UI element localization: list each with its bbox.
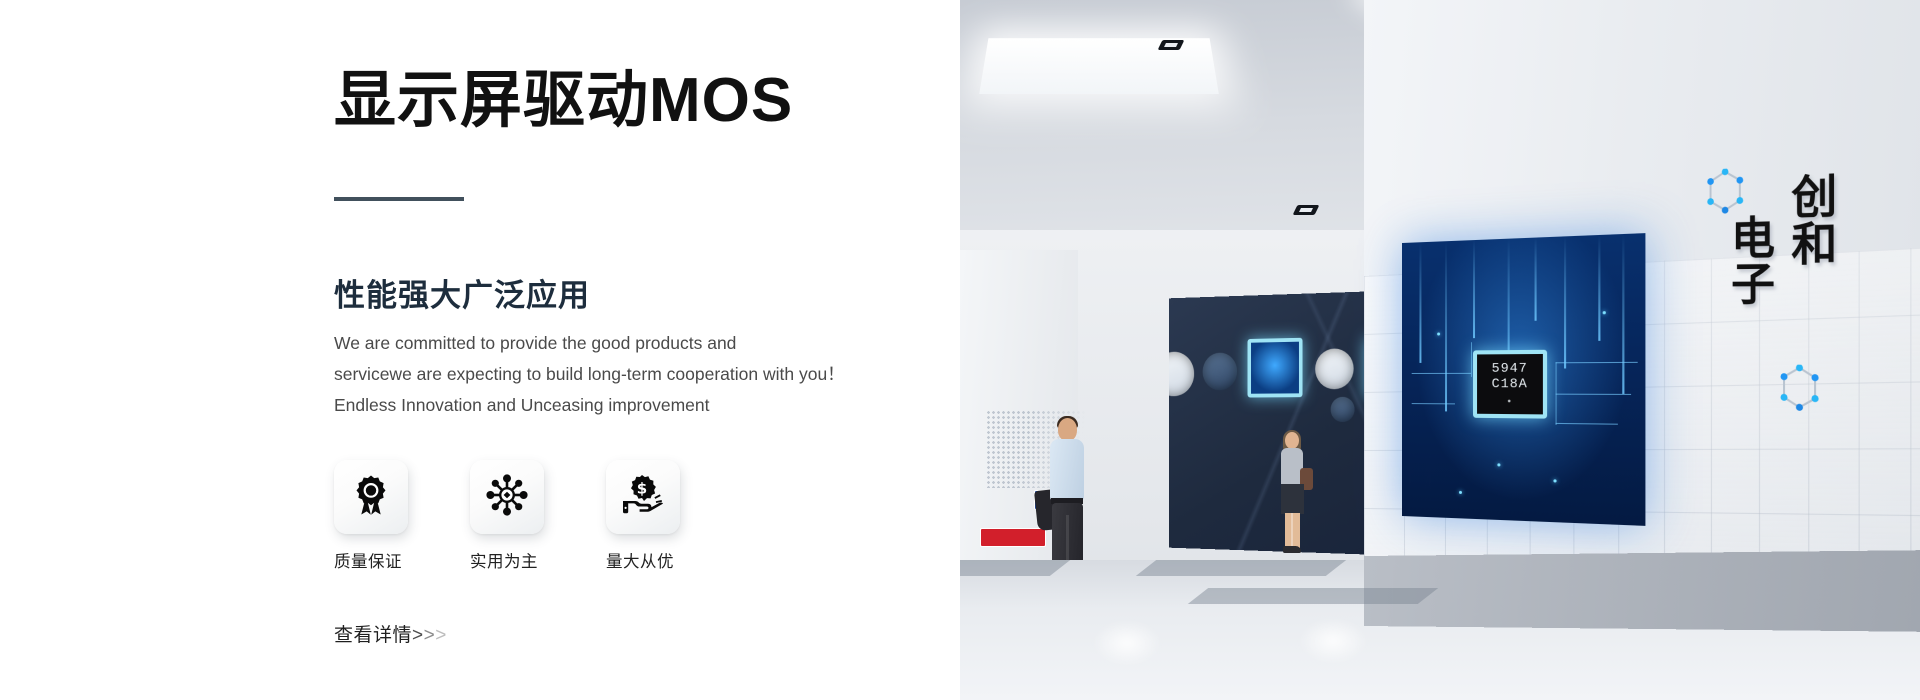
skylight-panel-light	[979, 38, 1219, 94]
chip-graphic: 5947 C18A ●	[1473, 350, 1547, 419]
hand-money-icon: $	[621, 474, 665, 521]
hero-banner: 显示屏驱动MOS 性能强大广泛应用 We are committed to pr…	[0, 0, 1920, 700]
floor-inlay-strip	[1188, 588, 1438, 604]
hero-text-pane: 显示屏驱动MOS 性能强大广泛应用 We are committed to pr…	[0, 0, 960, 700]
feature-item-quality[interactable]: 质量保证	[334, 460, 412, 572]
porthole-chip-image	[1248, 338, 1303, 398]
floor-inlay-strip	[1136, 560, 1346, 576]
hero-subtitle: 性能强大广泛应用	[334, 270, 590, 315]
chevron-right-icon-1: >	[412, 625, 424, 646]
feature-list: 质量保证	[334, 460, 684, 572]
chip-code-line-1: 5947	[1492, 360, 1528, 376]
title-divider	[334, 197, 464, 201]
floor-light-reflection	[1298, 618, 1368, 664]
description-line-1: We are committed to provide the good pro…	[334, 328, 894, 359]
description-line-2: servicewe are expecting to build long-te…	[334, 359, 894, 390]
feature-item-practical[interactable]: 实用为主	[470, 460, 548, 572]
award-ribbon-icon	[351, 474, 391, 521]
feature-tile	[334, 460, 408, 534]
chevron-right-icon-3: >	[435, 625, 447, 646]
view-details-link[interactable]: 查看详情>>>	[334, 620, 447, 647]
chip-pin-marker: ●	[1507, 393, 1512, 409]
wall-logo-column-1: 电子	[1725, 214, 1772, 307]
showroom-photo: 5947 C18A ● 电子 创和	[960, 0, 1920, 700]
feature-label: 实用为主	[470, 548, 538, 572]
page-title: 显示屏驱动MOS	[334, 66, 793, 135]
feature-label: 量大从优	[606, 548, 674, 572]
description-line-3: Endless Innovation and Unceasing improve…	[334, 390, 894, 421]
hero-description: We are committed to provide the good pro…	[334, 328, 894, 421]
hexagon-molecule-icon	[1779, 364, 1820, 413]
feature-label: 质量保证	[334, 548, 402, 572]
person-woman	[1276, 432, 1308, 554]
porthole-image	[1315, 348, 1353, 389]
chevron-right-icon-2: >	[424, 625, 436, 646]
wall-logo-column-2: 创和	[1785, 172, 1834, 267]
wall-baseboard	[1364, 549, 1920, 632]
network-hub-icon	[486, 474, 528, 521]
feature-tile: $	[606, 460, 680, 534]
feature-tile	[470, 460, 544, 534]
svg-text:$: $	[637, 479, 647, 497]
porthole-image	[1331, 397, 1355, 422]
red-wall-sign	[980, 528, 1046, 547]
cta-label: 查看详情	[334, 625, 412, 646]
hexagon-molecule-icon	[1706, 168, 1745, 216]
porthole-image	[1203, 352, 1237, 390]
porthole-image	[1169, 351, 1194, 396]
chip-code-line-2: C18A	[1492, 375, 1528, 391]
feature-item-bulk-discount[interactable]: $ 量大从优	[606, 460, 684, 572]
floor-light-reflection	[1092, 620, 1162, 666]
led-screen: 5947 C18A ●	[1402, 233, 1645, 526]
company-wall-logo: 电子 创和	[1700, 160, 1896, 430]
